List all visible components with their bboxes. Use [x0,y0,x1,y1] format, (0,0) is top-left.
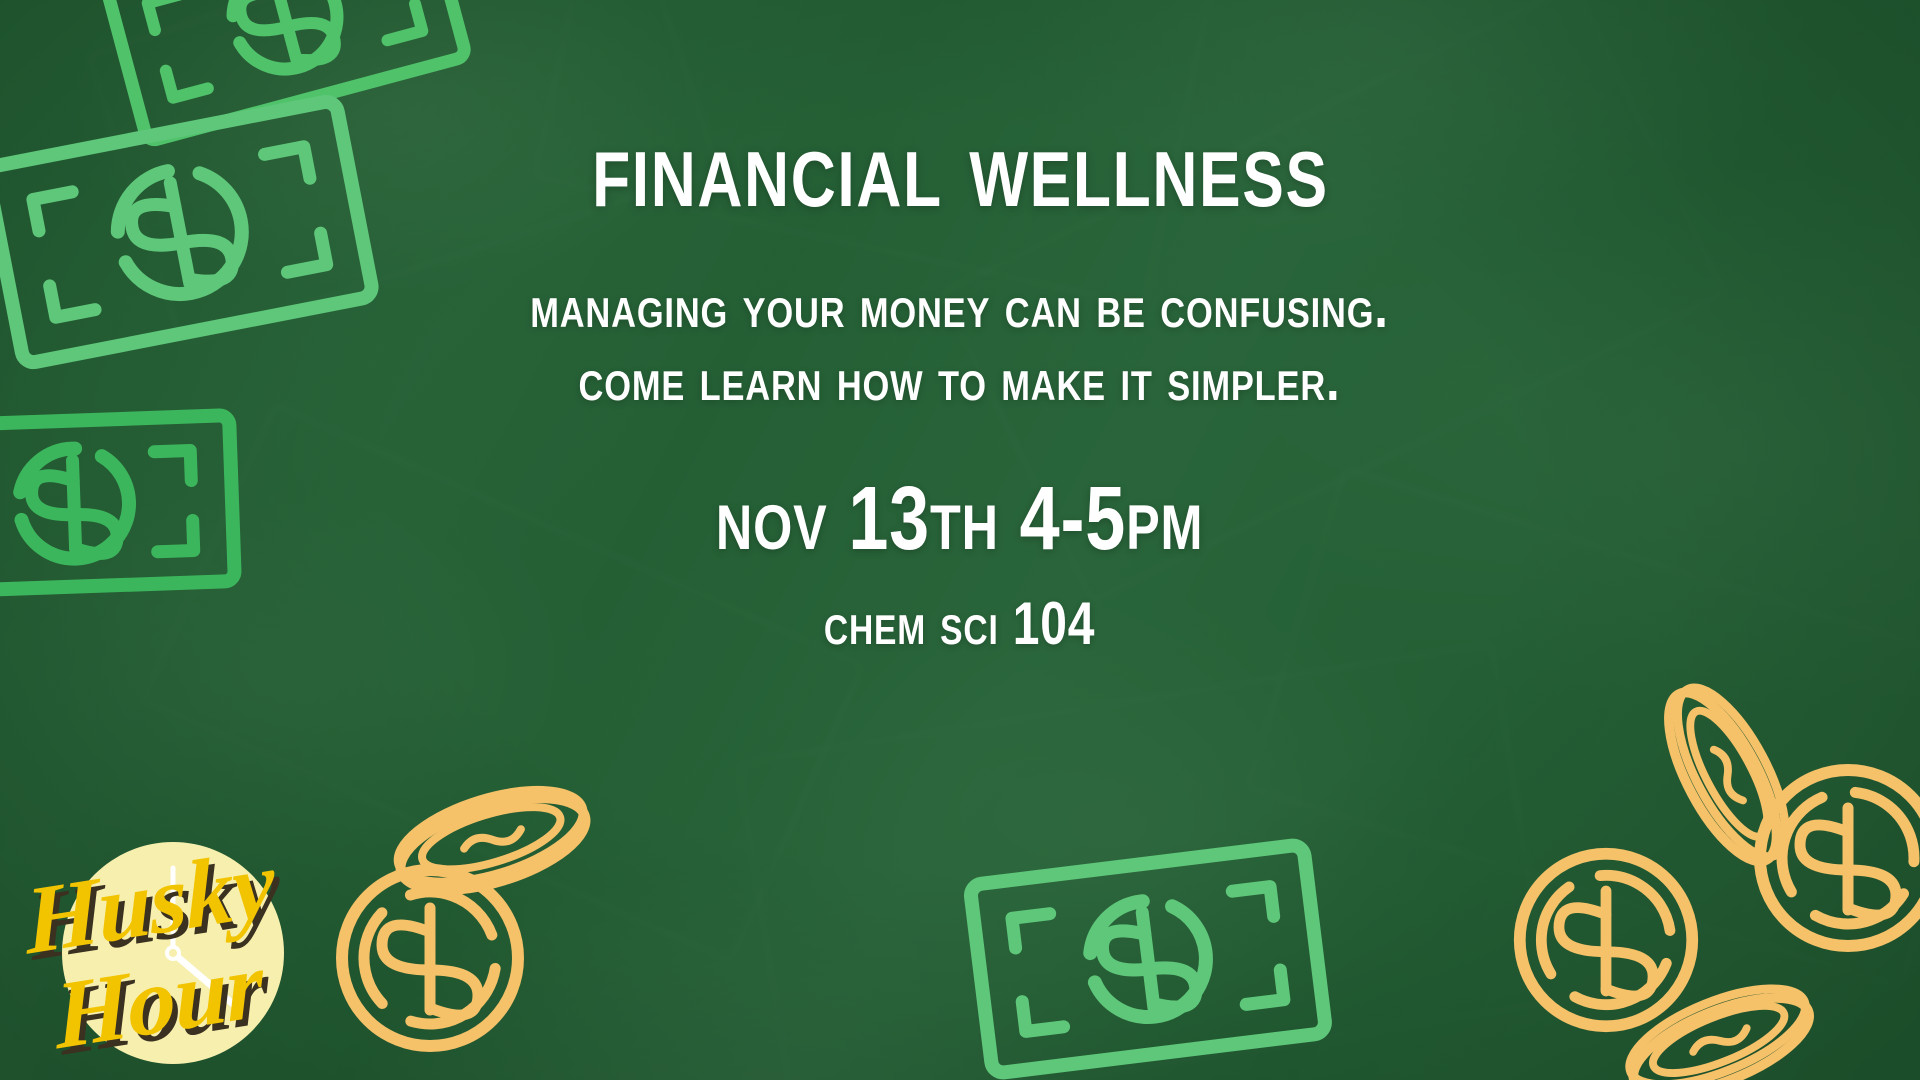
subtitle-line-1: Managing your money can be confusing. [531,270,1390,343]
husky-hour-logo: Husky Hour [10,794,340,1080]
flyer-subtitle: Managing your money can be confusing. Co… [531,270,1390,416]
event-location: Chem Sci 104 [824,594,1095,654]
subtitle-line-2: Come learn how to make it simpler. [531,343,1390,416]
page-title: Financial Wellness [592,112,1329,224]
event-datetime: Nov 13th 4-5pm [716,474,1203,564]
event-flyer: Financial Wellness Managing your money c… [0,0,1920,1080]
